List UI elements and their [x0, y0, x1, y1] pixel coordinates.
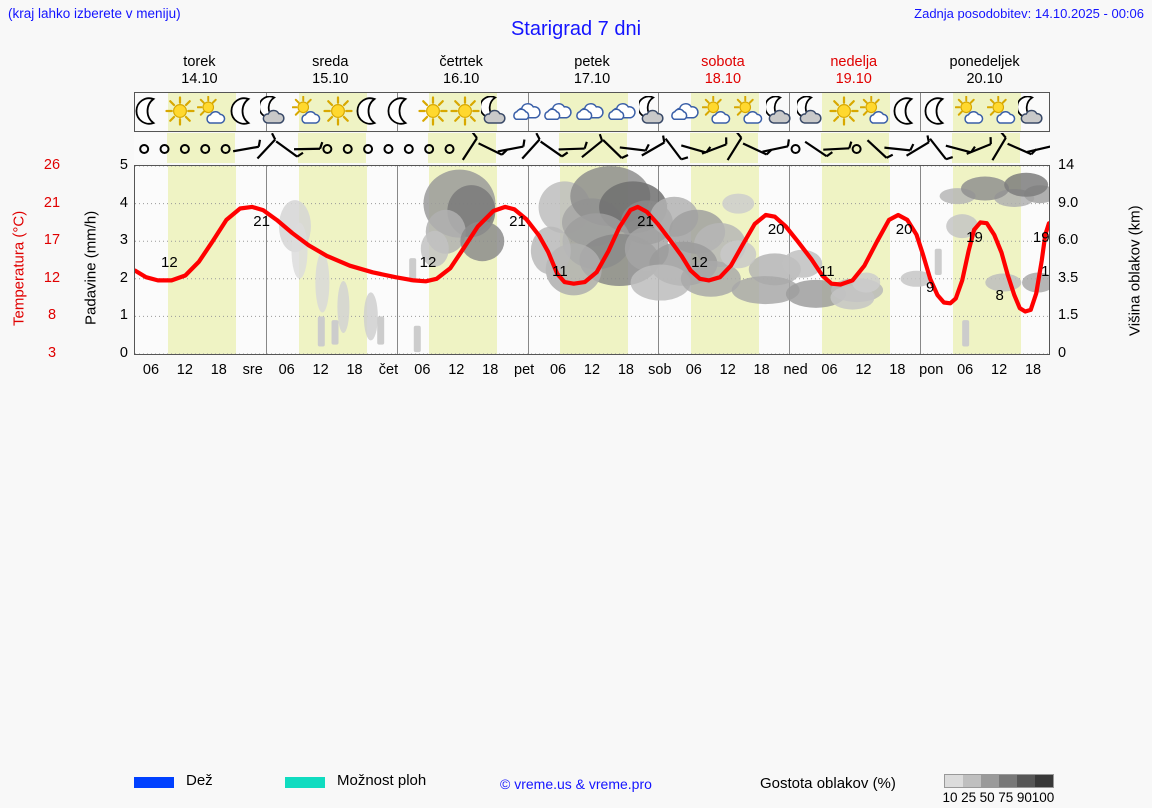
day-date: 16.10 — [396, 71, 527, 88]
x-tick-label: 12 — [448, 362, 464, 378]
temperature-value-label: 19 — [1033, 229, 1050, 246]
cloud-density-tick: 100 — [1032, 790, 1055, 805]
cloud-density-tick: 50 — [980, 790, 995, 805]
showers-swatch — [285, 777, 325, 788]
x-tick-label: sre — [243, 362, 263, 378]
x-tick-label: 06 — [143, 362, 159, 378]
x-tick-label: 06 — [279, 362, 295, 378]
day-name: sreda — [265, 54, 396, 71]
cloud-density-tick: 25 — [961, 790, 976, 805]
precip-trace — [414, 326, 421, 352]
temperature-value-label: 20 — [896, 221, 913, 238]
cloud-density-step — [963, 775, 981, 787]
x-tick-label: ned — [783, 362, 807, 378]
cloud-blob — [961, 177, 1009, 201]
weather-icon-row — [134, 92, 1050, 132]
cloud-blob — [337, 281, 349, 333]
moon-cloud-icon — [481, 96, 515, 130]
cloud-height-tick: 6.0 — [1058, 232, 1100, 248]
x-tick-label: pon — [919, 362, 943, 378]
cloud-blob — [722, 194, 754, 214]
cloud-height-tick: 0 — [1058, 345, 1100, 361]
cloud-icon — [671, 96, 705, 130]
day-name: ponedeljek — [919, 54, 1050, 71]
temperature-value-label: 19 — [966, 229, 983, 246]
sun-cloud-icon — [860, 96, 894, 130]
x-tick-label: 18 — [754, 362, 770, 378]
moon-icon — [229, 96, 263, 130]
temperature-value-label: 21 — [509, 213, 526, 230]
rain-label: Dež — [186, 772, 213, 789]
moon-cloud-icon — [260, 96, 294, 130]
day-header-5: nedelja19.10 — [788, 54, 919, 90]
temperature-value-label: 12 — [420, 254, 437, 271]
moon-cloud-icon — [766, 96, 800, 130]
cloud-density-step — [981, 775, 999, 787]
showers-label: Možnost ploh — [337, 772, 426, 789]
precip-trace — [962, 320, 969, 346]
precip-trace — [332, 320, 339, 344]
wind-barb-row — [134, 133, 1050, 163]
cloud-height-tick: 1.5 — [1058, 307, 1100, 323]
day-date: 15.10 — [265, 71, 396, 88]
temperature-tick: 21 — [32, 195, 72, 211]
cloud-density-tick: 75 — [998, 790, 1013, 805]
sun-icon — [450, 96, 484, 130]
day-header-4: sobota18.10 — [657, 54, 788, 90]
day-header-0: torek14.10 — [134, 54, 265, 90]
day-name: četrtek — [396, 54, 527, 71]
sun-cloud-icon — [702, 96, 736, 130]
precipitation-tick: 5 — [104, 157, 128, 173]
x-tick-label: 06 — [686, 362, 702, 378]
x-tick-label: 18 — [889, 362, 905, 378]
x-tick-label: čet — [379, 362, 398, 378]
precip-trace — [935, 249, 942, 275]
moon-icon — [892, 96, 926, 130]
cloud-height-axis-title: Višina oblakov (km) — [1122, 168, 1148, 373]
day-date: 20.10 — [919, 71, 1050, 88]
sun-icon — [165, 96, 199, 130]
x-tick-label: sob — [648, 362, 671, 378]
sun-icon — [323, 96, 357, 130]
temperature-value-label: 21 — [637, 213, 654, 230]
page-title: Starigrad 7 dni — [0, 18, 1152, 41]
forecast-plot: 1221122111211220112091981911 — [134, 165, 1050, 355]
temperature-tick: 12 — [32, 270, 72, 286]
temperature-axis-title: Temperatura (°C) — [6, 168, 32, 368]
precipitation-tick: 3 — [104, 232, 128, 248]
cloud-blob — [315, 253, 329, 313]
temperature-value-label: 20 — [768, 221, 785, 238]
legend: Dež Možnost ploh © vreme.us & vreme.pro … — [0, 386, 1152, 436]
temperature-value-label: 11 — [819, 263, 835, 280]
x-tick-label: 18 — [1025, 362, 1041, 378]
x-tick-label: 06 — [550, 362, 566, 378]
cloud-height-tick: 14 — [1058, 157, 1100, 173]
moon-icon — [923, 96, 957, 130]
cloud-icon — [576, 96, 610, 130]
cloud-blob — [292, 223, 308, 279]
rain-swatch — [134, 777, 174, 788]
x-tick-label: 06 — [821, 362, 837, 378]
cloud-density-ramp — [944, 774, 1054, 788]
moon-icon — [134, 96, 168, 130]
meteogram: 1221122111211220112091981911 — [134, 92, 1050, 362]
cloud-icon — [608, 96, 642, 130]
x-tick-label: 18 — [482, 362, 498, 378]
cloud-icon — [544, 96, 578, 130]
temperature-value-label: 11 — [1041, 263, 1050, 280]
sun-icon — [418, 96, 452, 130]
temperature-value-label: 12 — [691, 254, 708, 271]
cloud-blob — [364, 292, 378, 340]
day-header-3: petek17.10 — [527, 54, 658, 90]
moon-icon — [386, 96, 420, 130]
day-name: nedelja — [788, 54, 919, 71]
temperature-value-label: 11 — [552, 263, 568, 280]
moon-icon — [355, 96, 389, 130]
x-tick-label: 12 — [584, 362, 600, 378]
cloud-blob — [1004, 173, 1048, 197]
x-tick-label: 06 — [957, 362, 973, 378]
x-axis-labels: 061218sre061218čet061218pet061218sob0612… — [134, 362, 1050, 382]
temperature-tick: 17 — [32, 232, 72, 248]
x-tick-label: 12 — [855, 362, 871, 378]
x-tick-label: 12 — [991, 362, 1007, 378]
day-header-strip: torek14.10sreda15.10četrtek16.10petek17.… — [134, 54, 1050, 90]
sun-cloud-icon — [197, 96, 231, 130]
copyright-link[interactable]: © vreme.us & vreme.pro — [500, 776, 652, 792]
day-date: 14.10 — [134, 71, 265, 88]
precip-trace — [377, 316, 384, 344]
sun-cloud-icon — [955, 96, 989, 130]
x-tick-label: 06 — [414, 362, 430, 378]
temperature-value-label: 8 — [995, 287, 1003, 304]
temperature-cloud-plot — [135, 166, 1049, 354]
temperature-value-label: 12 — [161, 254, 178, 271]
day-name: petek — [527, 54, 658, 71]
day-date: 17.10 — [527, 71, 658, 88]
temperature-value-label: 21 — [253, 213, 270, 230]
cloud-height-tick: 9.0 — [1058, 195, 1100, 211]
moon-cloud-icon — [1018, 96, 1052, 130]
x-tick-label: 12 — [313, 362, 329, 378]
cloud-density-step — [1017, 775, 1035, 787]
temperature-tick: 3 — [32, 345, 72, 361]
sun-cloud-icon — [987, 96, 1021, 130]
x-tick-label: 18 — [618, 362, 634, 378]
precipitation-axis-title: Padavine (mm/h) — [78, 168, 104, 368]
moon-cloud-icon — [797, 96, 831, 130]
sun-icon — [829, 96, 863, 130]
cloud-density-tick: 10 — [942, 790, 957, 805]
cloud-density-label: Gostota oblakov (%) — [760, 775, 896, 792]
cloud-density-tick: 90 — [1017, 790, 1032, 805]
cloud-density-step — [999, 775, 1017, 787]
temperature-tick: 26 — [32, 157, 72, 173]
precipitation-tick: 1 — [104, 307, 128, 323]
x-tick-label: 12 — [177, 362, 193, 378]
cloud-density-ramp-labels: 1025507590100 — [938, 790, 1062, 808]
temperature-tick: 8 — [32, 307, 72, 323]
x-tick-label: pet — [514, 362, 534, 378]
cloud-density-step — [1035, 775, 1053, 787]
temperature-value-label: 9 — [926, 279, 934, 296]
day-header-2: četrtek16.10 — [396, 54, 527, 90]
wind-barbs — [134, 133, 1050, 163]
precipitation-tick: 2 — [104, 270, 128, 286]
x-tick-label: 18 — [211, 362, 227, 378]
day-date: 18.10 — [657, 71, 788, 88]
day-header-6: ponedeljek20.10 — [919, 54, 1050, 90]
x-tick-label: 18 — [346, 362, 362, 378]
day-name: torek — [134, 54, 265, 71]
day-header-1: sreda15.10 — [265, 54, 396, 90]
moon-cloud-icon — [639, 96, 673, 130]
cloud-density-step — [945, 775, 963, 787]
last-updated: Zadnja posodobitev: 14.10.2025 - 00:06 — [914, 6, 1144, 21]
day-date: 19.10 — [788, 71, 919, 88]
sun-cloud-icon — [292, 96, 326, 130]
x-tick-label: 12 — [720, 362, 736, 378]
day-name: sobota — [657, 54, 788, 71]
cloud-icon — [513, 96, 547, 130]
precip-trace — [318, 316, 325, 346]
precipitation-tick: 4 — [104, 195, 128, 211]
precipitation-tick: 0 — [104, 345, 128, 361]
cloud-height-tick: 3.5 — [1058, 270, 1100, 286]
sun-cloud-icon — [734, 96, 768, 130]
